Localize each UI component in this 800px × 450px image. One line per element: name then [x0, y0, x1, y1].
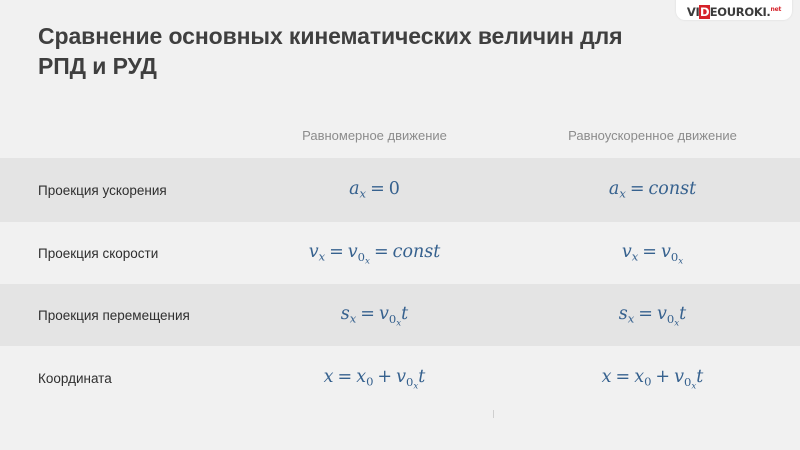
header-label-uniform: Равномерное движение: [302, 128, 447, 143]
formula-cell-accelerated-acceleration: ax=const: [493, 181, 800, 199]
formula-cell-uniform-coordinate: x=x0+v0xt: [262, 369, 493, 387]
formula-uniform-acceleration: ax=0: [349, 181, 400, 199]
comparison-table: Равномерное движение Равноускоренное дви…: [0, 112, 800, 410]
formula-uniform-velocity: vx=v0x=const: [309, 244, 441, 262]
formula-accelerated-velocity: vx=v0x: [622, 244, 683, 262]
table-header-row: Равномерное движение Равноускоренное дви…: [0, 112, 800, 158]
table-row: Проекция перемещения sx=v0xt sx=v0xt: [0, 284, 800, 346]
row-label-displacement: Проекция перемещения: [0, 308, 262, 323]
formula-cell-uniform-displacement: sx=v0xt: [262, 306, 493, 324]
page-title: Сравнение основных кинематических величи…: [38, 22, 658, 82]
table-row: Координата x=x0+v0xt x=x0+v0xt: [0, 346, 800, 410]
formula-uniform-coordinate: x=x0+v0xt: [324, 369, 426, 387]
table-row: Проекция ускорения ax=0 ax=const: [0, 158, 800, 222]
logo-highlight-letter: D: [699, 5, 709, 19]
logo-text: VIDEOUROKI.net: [687, 7, 781, 19]
formula-cell-accelerated-coordinate: x=x0+v0xt: [493, 369, 800, 387]
row-label-coordinate: Координата: [0, 371, 262, 386]
table-row: Проекция скорости vx=v0x=const vx=v0x: [0, 222, 800, 284]
formula-cell-uniform-velocity: vx=v0x=const: [262, 244, 493, 262]
videouroki-logo: VIDEOUROKI.net: [676, 0, 792, 20]
formula-cell-accelerated-displacement: sx=v0xt: [493, 306, 800, 324]
formula-accelerated-displacement: sx=v0xt: [619, 306, 686, 324]
header-label-accelerated: Равноускоренное движение: [568, 128, 737, 143]
header-cell-accelerated: Равноускоренное движение: [493, 128, 800, 143]
logo-tld: net: [771, 6, 782, 13]
logo-prefix: VI: [687, 5, 700, 19]
logo-middle: EOUROKI.: [710, 5, 771, 19]
formula-accelerated-coordinate: x=x0+v0xt: [602, 369, 704, 387]
formula-accelerated-acceleration: ax=const: [609, 181, 696, 199]
header-cell-uniform: Равномерное движение: [262, 128, 493, 143]
row-label-velocity: Проекция скорости: [0, 246, 262, 261]
formula-uniform-displacement: sx=v0xt: [341, 306, 408, 324]
row-label-acceleration: Проекция ускорения: [0, 183, 262, 198]
formula-cell-accelerated-velocity: vx=v0x: [493, 244, 800, 262]
formula-cell-uniform-acceleration: ax=0: [262, 181, 493, 199]
